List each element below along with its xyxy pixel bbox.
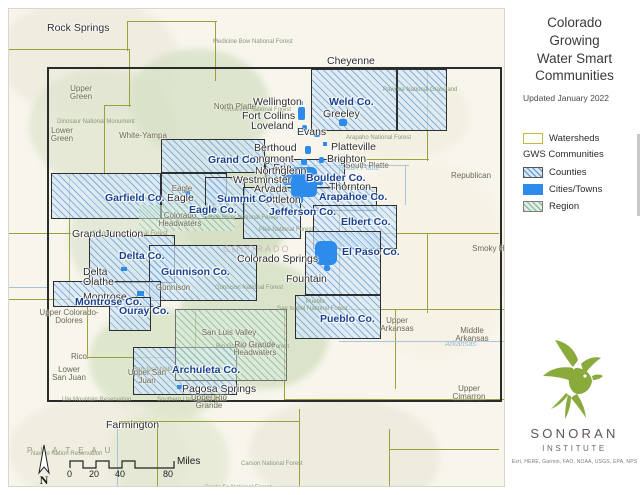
- title-line-2: Growing: [509, 32, 640, 50]
- county-label[interactable]: Boulder Co.: [306, 173, 366, 184]
- scale-bar-graphic: [69, 457, 174, 468]
- county-label[interactable]: Jefferson Co.: [269, 207, 336, 218]
- watershed-label: Upper Cimarron: [449, 385, 489, 401]
- city-label[interactable]: Eagle: [167, 193, 194, 204]
- title-line-3: Water Smart: [509, 50, 640, 68]
- city-label[interactable]: Olathe: [83, 277, 114, 288]
- place-label: Carson National Forest: [241, 461, 303, 468]
- place-label: Pueblo: [306, 299, 325, 306]
- watershed-swatch-icon: [523, 133, 543, 144]
- watershed-label: Upper Green: [62, 85, 100, 101]
- city-label[interactable]: Wellington: [253, 97, 302, 108]
- legend-label-cities-towns: Cities/Towns: [549, 184, 602, 195]
- logo-name: SONORAN: [509, 426, 640, 441]
- watershed-boundary: [299, 409, 300, 487]
- place-label: Ute Mountain Reservation: [62, 397, 131, 404]
- city-label[interactable]: Greeley: [323, 109, 360, 120]
- river-label: South Platte: [339, 164, 380, 172]
- county-label[interactable]: Delta Co.: [119, 251, 165, 262]
- scale-tick-80: 80: [163, 469, 173, 479]
- watershed-boundary: [127, 21, 128, 51]
- city-label[interactable]: Pagosa Springs: [182, 384, 256, 395]
- watershed-boundary: [389, 449, 499, 450]
- place-label: Pike National Forest: [259, 227, 313, 234]
- counties-swatch-icon: [523, 167, 543, 178]
- county-label[interactable]: Arapahoe Co.: [319, 192, 387, 203]
- watershed-label: Republican: [447, 172, 495, 180]
- map-page: Medicine Bow National ForestDinosaur Nat…: [0, 0, 640, 495]
- scale-tick-0: 0: [67, 469, 72, 479]
- place-label: San Isabel National Forest: [277, 306, 348, 313]
- county-label[interactable]: Eagle Co.: [189, 205, 237, 216]
- title-line-1: Colorado: [509, 14, 640, 32]
- watershed-label: Upper Arkansas: [377, 317, 417, 333]
- scale-bar: 0 20 40 80 Miles: [69, 457, 174, 468]
- svg-text:N: N: [40, 473, 49, 485]
- watershed-label: Gunnison: [154, 284, 192, 292]
- county-label[interactable]: Ouray Co.: [119, 306, 169, 317]
- county-label[interactable]: Archuleta Co.: [172, 365, 240, 376]
- city-label[interactable]: Berthoud: [254, 143, 297, 154]
- hummingbird-icon: [537, 338, 613, 422]
- city-label[interactable]: Platteville: [331, 142, 376, 153]
- place-label: Dinosaur National Monument: [57, 119, 135, 126]
- county-label[interactable]: Elbert Co.: [341, 217, 391, 228]
- city-label[interactable]: Colorado Springs: [237, 254, 318, 265]
- legend-item-cities-towns[interactable]: Cities/Towns: [523, 181, 637, 197]
- watershed-label: Upper Colorado-Dolores: [39, 309, 99, 325]
- watershed-label: Smoky Hill: [469, 245, 505, 253]
- map-title: Colorado Growing Water Smart Communities: [509, 14, 640, 85]
- river-line: [9, 287, 49, 288]
- city-label[interactable]: Fountain: [286, 274, 327, 285]
- watershed-label: Lower San Juan: [50, 366, 88, 382]
- region-swatch-icon: [523, 201, 543, 212]
- place-label: Gunnison National Forest: [215, 285, 283, 292]
- place-label: Pawnee National Grassland: [383, 87, 457, 94]
- city-label[interactable]: Loveland: [251, 121, 294, 132]
- watershed-boundary: [389, 429, 390, 487]
- north-arrow: N: [33, 443, 55, 485]
- watershed-label: Lower Green: [40, 127, 84, 143]
- state-label: COLORADO: [223, 245, 291, 254]
- city-label[interactable]: Farmington: [106, 420, 159, 431]
- place-label: Medicine Bow National Forest: [213, 39, 293, 46]
- watershed-label: Upper San Juan: [127, 369, 167, 385]
- side-panel: Colorado Growing Water Smart Communities…: [509, 0, 640, 495]
- city-label[interactable]: Brighton: [327, 154, 366, 165]
- city-label[interactable]: Rock Springs: [47, 23, 109, 34]
- watershed-label: Rico: [66, 353, 92, 361]
- legend: Watersheds GWS Communities Counties Citi…: [523, 128, 633, 219]
- legend-inner: Watersheds GWS Communities Counties Citi…: [523, 128, 637, 219]
- scale-tick-20: 20: [89, 469, 99, 479]
- county-label[interactable]: Pueblo Co.: [320, 314, 375, 325]
- legend-label-watersheds: Watersheds: [549, 133, 599, 144]
- city-label[interactable]: Evans: [297, 127, 326, 138]
- updated-date: Updated January 2022: [523, 93, 609, 103]
- legend-item-watersheds[interactable]: Watersheds: [523, 130, 637, 146]
- title-line-4: Communities: [509, 67, 640, 85]
- city-label[interactable]: Grand Junction: [72, 229, 143, 240]
- watershed-label: San Luis Valley: [194, 329, 264, 337]
- place-label: Santa Fe National Forest: [205, 485, 272, 487]
- place-label: White River National Forest: [205, 215, 278, 222]
- terrain-shade: [249, 399, 439, 487]
- legend-label-counties: Counties: [549, 167, 587, 178]
- legend-item-region[interactable]: Region: [523, 198, 637, 214]
- watershed-label: Rio Grande Headwaters: [231, 341, 279, 357]
- map-canvas[interactable]: Medicine Bow National ForestDinosaur Nat…: [8, 8, 505, 487]
- scale-units-label: Miles: [177, 456, 200, 467]
- county-label[interactable]: Gunnison Co.: [161, 267, 230, 278]
- river-label: Arkansas: [445, 340, 476, 348]
- legend-label-region: Region: [549, 201, 579, 212]
- watershed-boundary: [9, 49, 129, 50]
- legend-group-header: GWS Communities: [523, 147, 637, 163]
- county-label[interactable]: Summit Co.: [217, 194, 275, 205]
- watershed-label: Upper Rio Grande: [189, 394, 229, 410]
- watershed-label: White-Yampa: [115, 132, 171, 140]
- scale-tick-40: 40: [115, 469, 125, 479]
- county-label[interactable]: Garfield Co.: [105, 193, 165, 204]
- sonoran-institute-logo: SONORAN INSTITUTE: [509, 338, 640, 453]
- county-label[interactable]: Grand Co.: [208, 155, 259, 166]
- county-label[interactable]: Weld Co.: [329, 97, 374, 108]
- logo-subtitle: INSTITUTE: [509, 444, 640, 453]
- county-label[interactable]: El Paso Co.: [342, 247, 400, 258]
- cities-swatch-icon: [523, 184, 543, 195]
- legend-item-counties[interactable]: Counties: [523, 164, 637, 180]
- map-attribution: Esri, HERE, Garmin, FAO, NOAA, USGS, EPA…: [509, 459, 640, 465]
- city-label[interactable]: Cheyenne: [327, 56, 375, 67]
- watershed-boundary: [127, 21, 217, 22]
